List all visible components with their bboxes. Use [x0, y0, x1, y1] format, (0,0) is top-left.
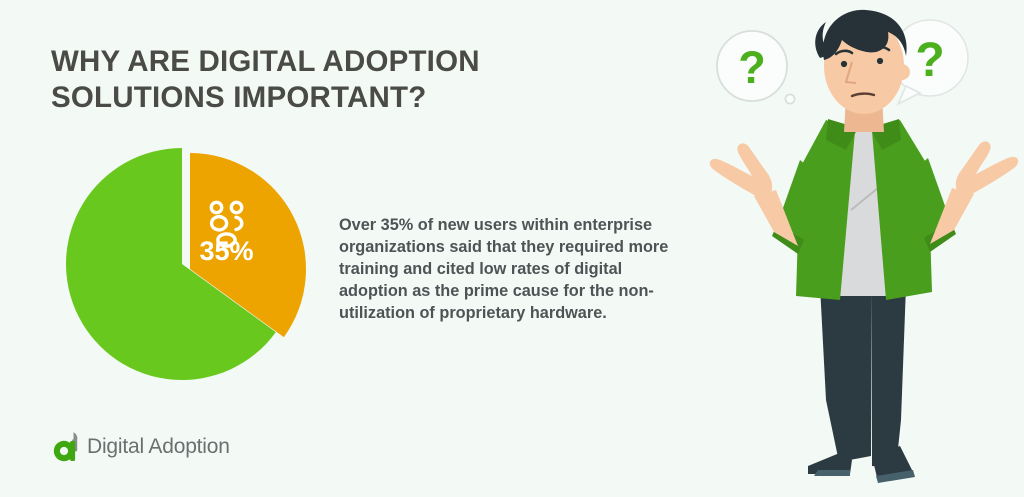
- digital-adoption-logo-mark-icon: [52, 430, 82, 464]
- left-hand: [710, 143, 772, 196]
- right-hand: [956, 141, 1018, 194]
- right-leg: [872, 286, 906, 468]
- left-question-mark: ?: [738, 42, 766, 93]
- left-thought-bubble: ?: [717, 31, 795, 104]
- left-shoe-sole: [814, 470, 850, 476]
- pie-chart: 35%: [62, 142, 310, 390]
- ear: [894, 64, 910, 80]
- right-question-mark: ?: [915, 34, 944, 87]
- left-leg: [820, 286, 872, 462]
- brand-logo-text: Digital Adoption: [87, 435, 230, 459]
- pie-chart-svg: 35%: [62, 142, 310, 390]
- pie-slice-percent-label: 35%: [199, 236, 253, 266]
- page-title: WHY ARE DIGITAL ADOPTION SOLUTIONS IMPOR…: [51, 44, 651, 116]
- right-eye: [877, 58, 883, 64]
- description-paragraph: Over 35% of new users within enterprise …: [339, 215, 684, 325]
- brand-logo[interactable]: Digital Adoption: [52, 430, 230, 464]
- illustration-svg: ? ?: [700, 0, 1024, 497]
- left-eye: [841, 61, 847, 67]
- infographic-canvas: WHY ARE DIGITAL ADOPTION SOLUTIONS IMPOR…: [0, 0, 1024, 497]
- illustration-confused-man: ? ?: [700, 0, 1024, 497]
